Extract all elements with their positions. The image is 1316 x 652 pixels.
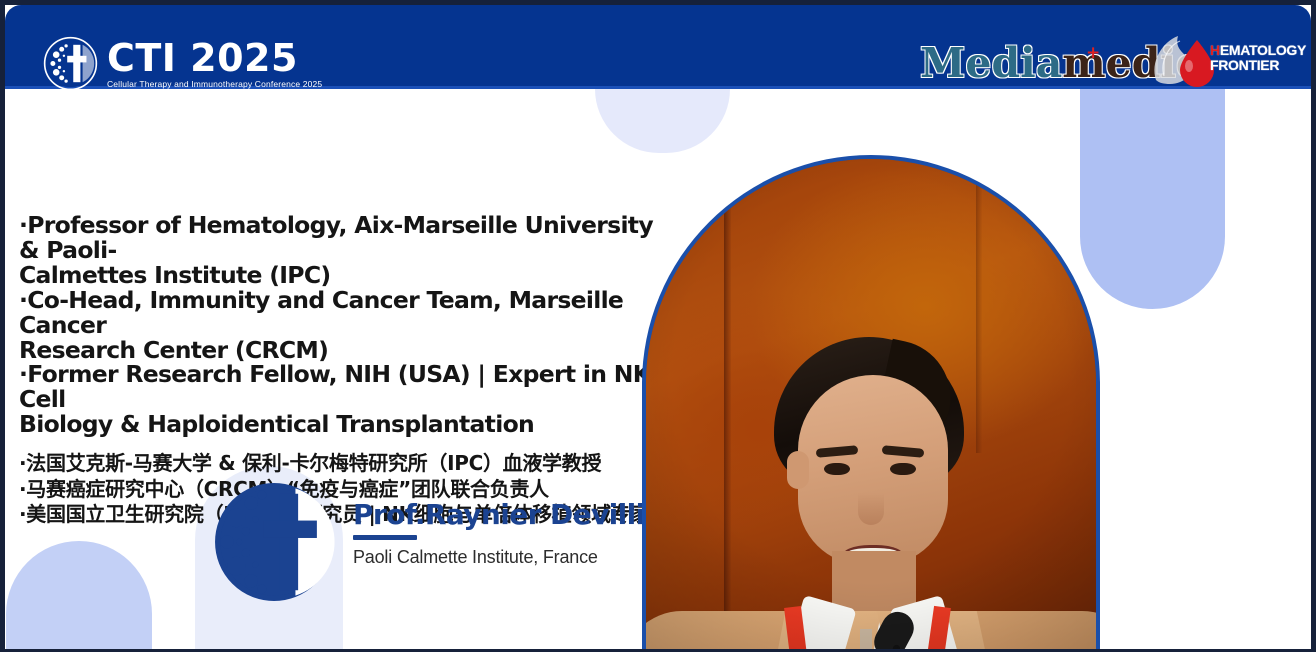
credential-zh-line: ·法国艾克斯-马赛大学 & 保利-卡尔梅特研究所（IPC）血液学教授 bbox=[19, 451, 659, 477]
presentation-slide: CTI 2025 Cellular Therapy and Immunother… bbox=[0, 0, 1316, 652]
speaker-affiliation: Paoli Calmette Institute, France bbox=[353, 547, 676, 568]
speaker-name: Prof.Raynier Devillier bbox=[353, 501, 676, 529]
mediamedic-cross-icon: + bbox=[1086, 43, 1100, 63]
name-underline-rule bbox=[353, 535, 417, 540]
credentials-english: ·Professor of Hematology, Aix-Marseille … bbox=[19, 213, 659, 437]
hf-line1: HEMATOLOGY bbox=[1210, 43, 1306, 58]
credential-en-line: Research Center (CRCM) bbox=[19, 338, 659, 363]
credential-en-line: ·Professor of Hematology, Aix-Marseille … bbox=[19, 213, 659, 263]
speaker-photo-frame: notherapy Conference lular Therapy Cellu… bbox=[642, 155, 1100, 649]
hematology-frontier-text: HEMATOLOGY FRONTIER bbox=[1210, 43, 1306, 72]
slide-canvas: CTI 2025 Cellular Therapy and Immunother… bbox=[5, 5, 1311, 649]
slide-header-bar: CTI 2025 Cellular Therapy and Immunother… bbox=[5, 5, 1311, 89]
credential-en-line: Calmettes Institute (IPC) bbox=[19, 263, 659, 288]
decor-top-circle bbox=[595, 89, 730, 153]
speaker-badge-logo-icon bbox=[207, 475, 341, 609]
photo-vignette bbox=[646, 159, 1096, 649]
credential-en-line: ·Former Research Fellow, NIH (USA) | Exp… bbox=[19, 362, 659, 412]
speaker-photo: notherapy Conference lular Therapy Cellu… bbox=[646, 159, 1096, 649]
credential-en-line: Biology & Haploidentical Transplantation bbox=[19, 412, 659, 437]
hf-line1-rest: EMATOLOGY bbox=[1220, 42, 1306, 58]
cti-brand-lockup: CTI 2025 Cellular Therapy and Immunother… bbox=[43, 36, 322, 89]
hf-line2: FRONTIER bbox=[1210, 58, 1306, 73]
hf-line1-accent: H bbox=[1210, 42, 1220, 58]
mediamedic-part-a: Media bbox=[920, 39, 1062, 87]
cti-title: CTI 2025 bbox=[107, 39, 322, 77]
decor-bottom-left-arch bbox=[6, 541, 152, 649]
cti-subtitle: Cellular Therapy and Immunotherapy Confe… bbox=[107, 80, 322, 89]
credential-en-line: ·Co-Head, Immunity and Cancer Team, Mars… bbox=[19, 288, 659, 338]
speaker-name-block: Prof.Raynier Devillier Paoli Calmette In… bbox=[353, 501, 676, 568]
decor-right-pill bbox=[1080, 89, 1225, 309]
hematology-frontier-lockup: HEMATOLOGY FRONTIER bbox=[1148, 32, 1298, 88]
cti-cross-cell-logo-icon bbox=[43, 36, 98, 89]
